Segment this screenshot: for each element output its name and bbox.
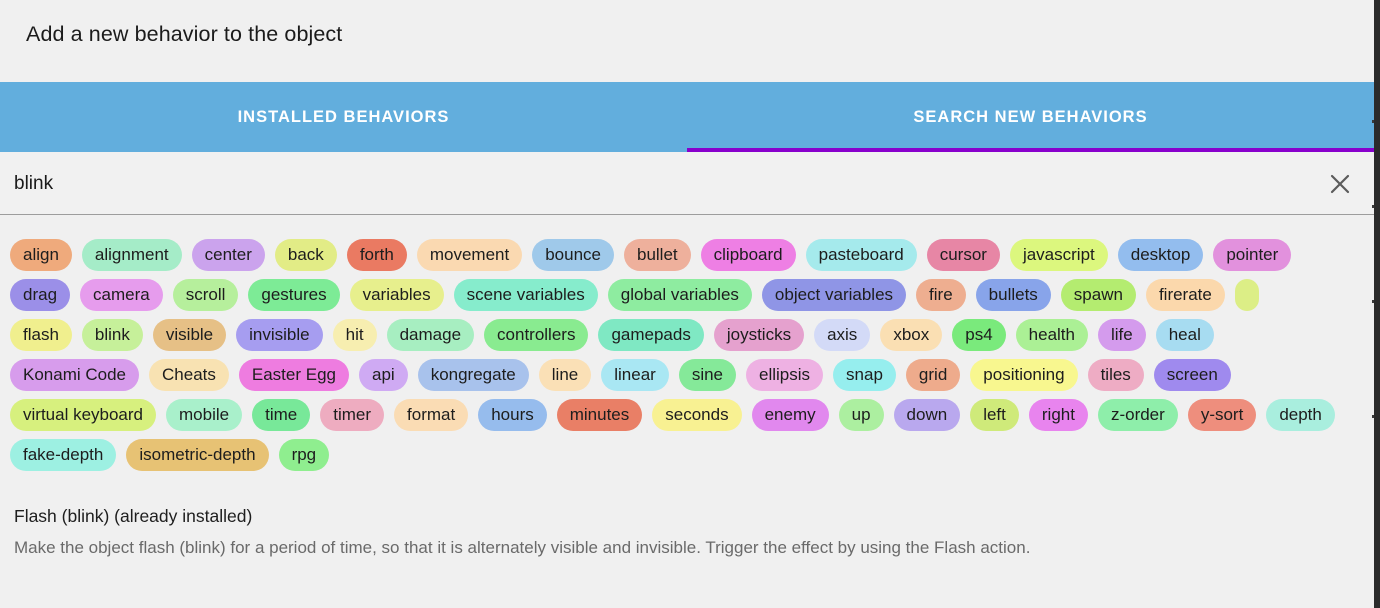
- tag-chip[interactable]: hit: [333, 319, 377, 351]
- tag-chip[interactable]: fire: [916, 279, 966, 311]
- tag-chip[interactable]: format: [394, 399, 468, 431]
- tag-chip[interactable]: gamepads: [598, 319, 703, 351]
- tag-chip[interactable]: isometric-depth: [126, 439, 268, 471]
- tab-search-new-behaviors[interactable]: SEARCH NEW BEHAVIORS: [687, 82, 1374, 152]
- tag-chip[interactable]: pasteboard: [806, 239, 917, 271]
- tag-row: fake-depthisometric-depthrpg: [10, 435, 1374, 475]
- tag-chip[interactable]: axis: [814, 319, 870, 351]
- tag-chip[interactable]: movement: [417, 239, 522, 271]
- tag-chip[interactable]: firerate: [1146, 279, 1225, 311]
- tag-row: Konami CodeCheatsEaster Eggapikongregate…: [10, 355, 1374, 395]
- tag-chip[interactable]: scene variables: [454, 279, 598, 311]
- tag-chip[interactable]: sine: [679, 359, 736, 391]
- tag-chip[interactable]: visible: [153, 319, 226, 351]
- tag-chip[interactable]: forth: [347, 239, 407, 271]
- tag-chip[interactable]: invisible: [236, 319, 322, 351]
- tag-chip[interactable]: seconds: [652, 399, 741, 431]
- tab-bar: INSTALLED BEHAVIORSSEARCH NEW BEHAVIORS: [0, 82, 1374, 152]
- tag-chip[interactable]: enemy: [752, 399, 829, 431]
- tag-chip[interactable]: line: [539, 359, 591, 391]
- tag-chip[interactable]: linear: [601, 359, 669, 391]
- tag-chip[interactable]: positioning: [970, 359, 1077, 391]
- tag-chip[interactable]: joysticks: [714, 319, 804, 351]
- tag-chip[interactable]: ellipsis: [746, 359, 823, 391]
- tag-chip[interactable]: back: [275, 239, 337, 271]
- tag-chip[interactable]: center: [192, 239, 265, 271]
- tag-chip[interactable]: left: [970, 399, 1019, 431]
- tag-chip[interactable]: grid: [906, 359, 960, 391]
- tag-chip[interactable]: ps4: [952, 319, 1005, 351]
- tag-chip[interactable]: api: [359, 359, 408, 391]
- scroll-tick: [1372, 300, 1374, 303]
- tag-chip[interactable]: cursor: [927, 239, 1000, 271]
- tab-label: INSTALLED BEHAVIORS: [238, 108, 450, 127]
- tag-chip[interactable]: screen: [1154, 359, 1231, 391]
- tag-chip[interactable]: health: [1016, 319, 1088, 351]
- tag-cloud: alignalignmentcenterbackforthmovementbou…: [0, 216, 1374, 491]
- tag-chip[interactable]: Easter Egg: [239, 359, 349, 391]
- tag-chip[interactable]: fake-depth: [10, 439, 116, 471]
- tag-chip[interactable]: life: [1098, 319, 1146, 351]
- tag-chip[interactable]: bullets: [976, 279, 1051, 311]
- tag-chip[interactable]: clipboard: [701, 239, 796, 271]
- tag-chip[interactable]: minutes: [557, 399, 643, 431]
- tag-chip[interactable]: kongregate: [418, 359, 529, 391]
- tag-chip[interactable]: controllers: [484, 319, 588, 351]
- tag-chip[interactable]: bullet: [624, 239, 691, 271]
- tag-chip[interactable]: time: [252, 399, 310, 431]
- tag-chip[interactable]: alignment: [82, 239, 182, 271]
- scroll-tick: [1372, 120, 1374, 123]
- tag-chip[interactable]: pointer: [1213, 239, 1291, 271]
- tag-chip[interactable]: javascript: [1010, 239, 1108, 271]
- tag-chip[interactable]: mobile: [166, 399, 242, 431]
- tag-chip[interactable]: xbox: [880, 319, 942, 351]
- tag-chip[interactable]: global variables: [608, 279, 752, 311]
- tag-chip[interactable]: Cheats: [149, 359, 229, 391]
- tab-label: SEARCH NEW BEHAVIORS: [913, 108, 1147, 127]
- dialog-header: Add a new behavior to the object: [0, 0, 1374, 82]
- tag-chip[interactable]: virtual keyboard: [10, 399, 156, 431]
- tag-chip[interactable]: gestures: [248, 279, 339, 311]
- tag-chip[interactable]: align: [10, 239, 72, 271]
- tag-chip[interactable]: heal: [1156, 319, 1214, 351]
- close-icon[interactable]: [1322, 166, 1358, 202]
- tag-chip[interactable]: variables: [350, 279, 444, 311]
- tag-chip[interactable]: tiles: [1088, 359, 1144, 391]
- tag-chip[interactable]: camera: [80, 279, 163, 311]
- add-behavior-dialog: Add a new behavior to the object INSTALL…: [0, 0, 1380, 608]
- tag-chip[interactable]: drag: [10, 279, 70, 311]
- scroll-tick: [1372, 415, 1374, 418]
- search-bar[interactable]: blink: [0, 152, 1374, 215]
- search-input[interactable]: blink: [14, 173, 53, 195]
- tag-chip[interactable]: right: [1029, 399, 1088, 431]
- page-title: Add a new behavior to the object: [26, 22, 342, 47]
- tag-chip[interactable]: bounce: [532, 239, 614, 271]
- tag-chip[interactable]: scroll: [173, 279, 239, 311]
- tag-chip[interactable]: spawn: [1061, 279, 1136, 311]
- tag-chip-blank[interactable]: [1235, 279, 1259, 311]
- window-right-edge: [1374, 0, 1380, 608]
- tag-chip[interactable]: snap: [833, 359, 896, 391]
- tag-chip[interactable]: object variables: [762, 279, 906, 311]
- tag-chip[interactable]: Konami Code: [10, 359, 139, 391]
- behavior-result: Flash (blink) (already installed) Make t…: [14, 506, 1364, 558]
- tag-chip[interactable]: blink: [82, 319, 143, 351]
- tag-chip[interactable]: z-order: [1098, 399, 1178, 431]
- behavior-result-title: Flash (blink) (already installed): [14, 506, 1364, 527]
- tag-chip[interactable]: y-sort: [1188, 399, 1257, 431]
- tag-row: dragcamerascrollgesturesvariablesscene v…: [10, 275, 1374, 315]
- tag-row: flashblinkvisibleinvisiblehitdamagecontr…: [10, 315, 1374, 355]
- tag-chip[interactable]: flash: [10, 319, 72, 351]
- tag-chip[interactable]: rpg: [279, 439, 330, 471]
- tag-chip[interactable]: depth: [1266, 399, 1335, 431]
- tab-installed-behaviors[interactable]: INSTALLED BEHAVIORS: [0, 82, 687, 152]
- tag-chip[interactable]: damage: [387, 319, 474, 351]
- behavior-result-description: Make the object flash (blink) for a peri…: [14, 538, 1364, 558]
- tag-row: alignalignmentcenterbackforthmovementbou…: [10, 235, 1374, 275]
- tag-chip[interactable]: hours: [478, 399, 547, 431]
- scroll-tick: [1372, 205, 1374, 208]
- tag-chip[interactable]: desktop: [1118, 239, 1204, 271]
- tag-chip[interactable]: up: [839, 399, 884, 431]
- tag-row: virtual keyboardmobiletimetimerformathou…: [10, 395, 1374, 435]
- tag-chip[interactable]: timer: [320, 399, 384, 431]
- tag-chip[interactable]: down: [894, 399, 961, 431]
